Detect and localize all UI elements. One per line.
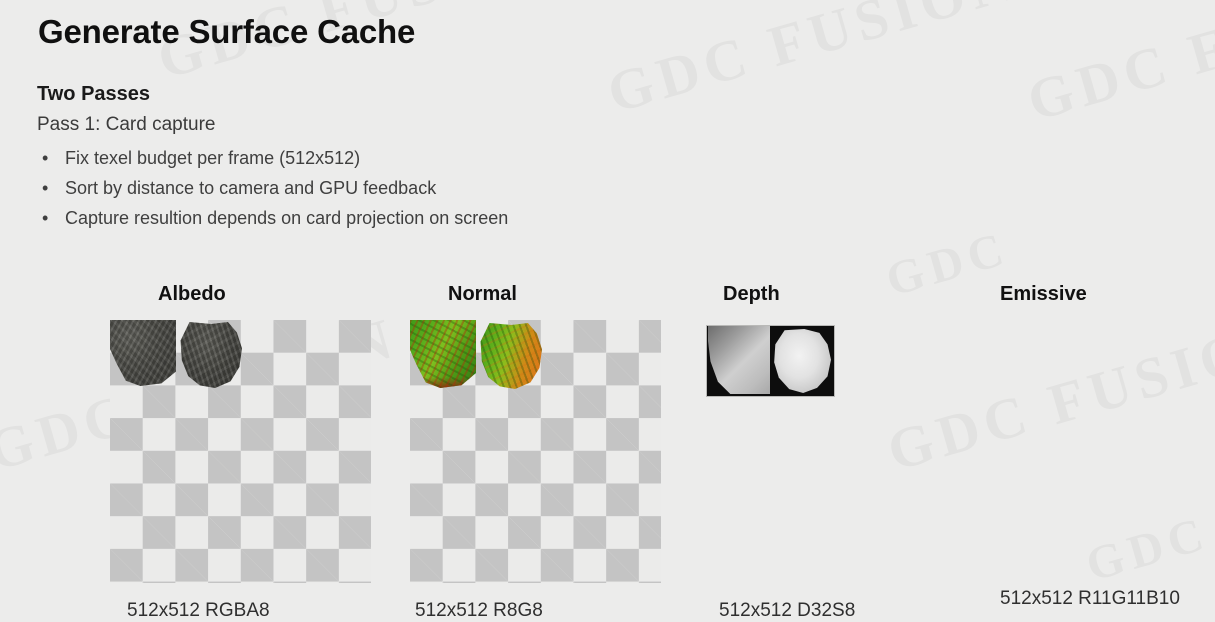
watermark-text: GDC [1080,506,1215,593]
watermark-text: GDC FUSION [880,304,1215,485]
list-item: • Fix texel budget per frame (512x512) [37,143,508,173]
column-header-albedo: Albedo [158,283,226,306]
bullet-icon: • [42,143,48,173]
column-header-normal: Normal [448,283,517,306]
list-item: • Capture resultion depends on card proj… [37,203,508,233]
page-title: Generate Surface Cache [38,13,415,51]
column-header-emissive: Emissive [1000,283,1087,306]
normal-card-textures [410,320,542,392]
depth-card-1 [708,326,770,394]
caption-normal: 512x512 R8G8 [415,600,543,622]
depth-card-2 [773,329,831,393]
bullet-list: • Fix texel budget per frame (512x512) •… [37,143,508,233]
caption-emissive: 512x512 R11G11B10 [1000,588,1180,610]
depth-card-textures [706,325,835,397]
column-header-depth: Depth [723,283,780,306]
caption-albedo: 512x512 RGBA8 [127,600,270,622]
bullet-icon: • [42,203,48,233]
albedo-card-1 [110,320,176,386]
albedo-card-textures [110,320,242,390]
normal-card-1 [410,320,476,388]
list-item: • Sort by distance to camera and GPU fee… [37,173,508,203]
list-item-label: Sort by distance to camera and GPU feedb… [65,178,436,198]
list-item-label: Fix texel budget per frame (512x512) [65,148,360,168]
caption-depth: 512x512 D32S8 [719,600,855,622]
normal-card-2 [478,323,542,389]
watermark-text: GDC FUSION [1020,0,1215,134]
bullet-icon: • [42,173,48,203]
albedo-card-2 [178,322,242,388]
section-subheading: Two Passes [37,83,150,106]
watermark-text: GDC [880,221,1015,308]
watermark-text: GDC FUSION [600,0,1025,126]
list-item-label: Capture resultion depends on card projec… [65,208,508,228]
pass-label: Pass 1: Card capture [37,114,215,136]
